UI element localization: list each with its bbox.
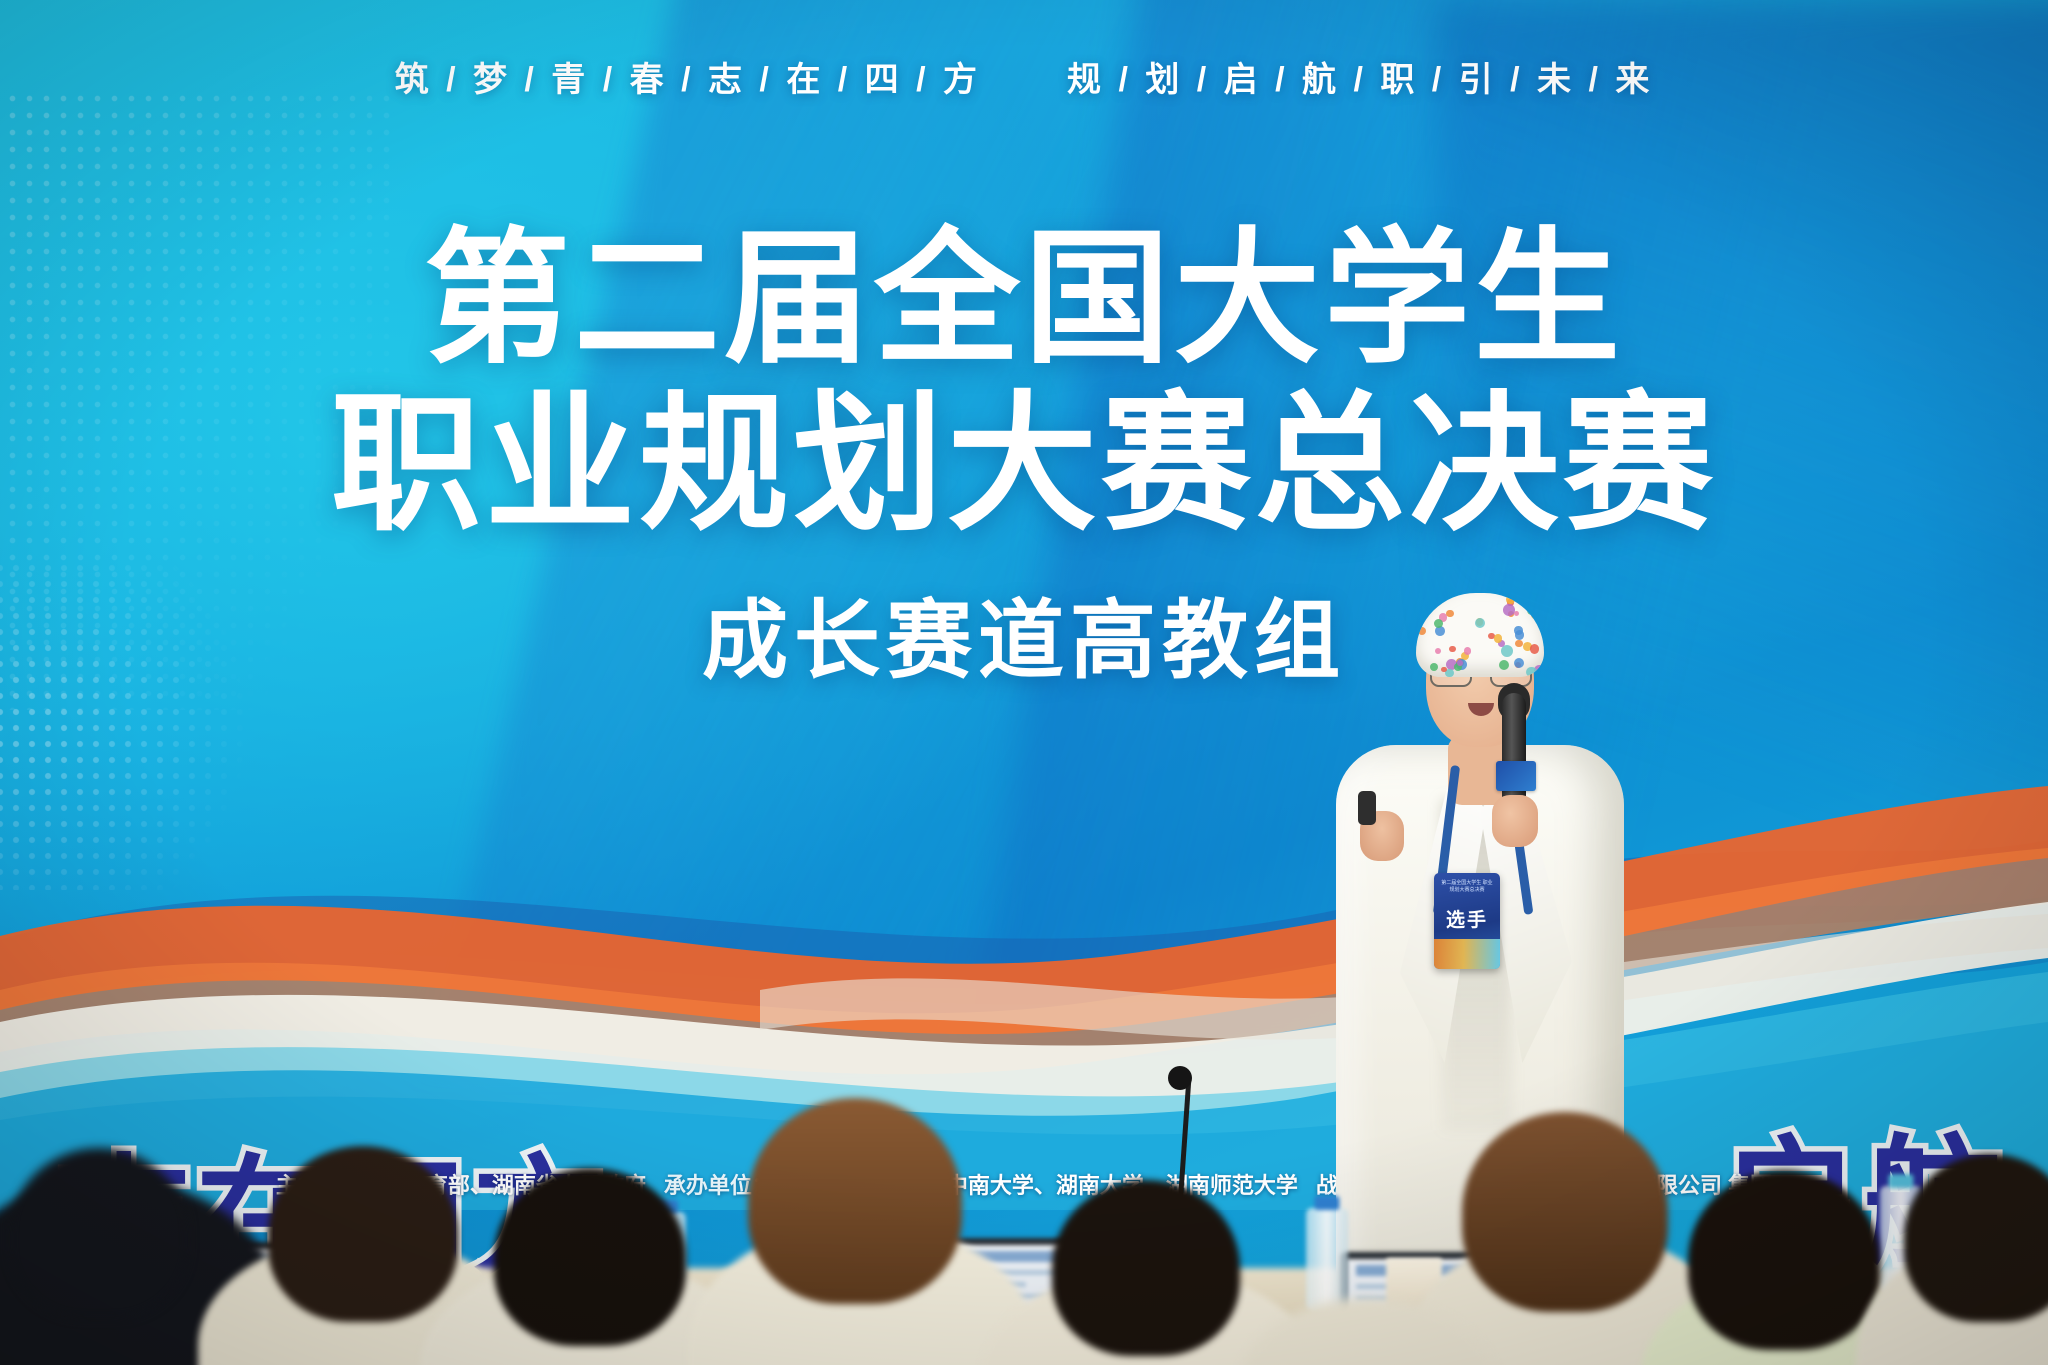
audience-head <box>494 1168 686 1346</box>
cap-pattern-dot <box>1515 640 1523 648</box>
slogan-left-text: 筑 / 梦 / 青 / 春 / 志 / 在 / 四 / 方 <box>395 52 981 101</box>
cap-pattern-dot <box>1506 595 1515 604</box>
cap-pattern-dot <box>1475 618 1485 628</box>
badge-role-text: 选手 <box>1434 905 1500 932</box>
bottle-cap <box>1314 1196 1339 1210</box>
audience-head <box>1462 1112 1668 1312</box>
microphone-flag <box>1496 761 1536 791</box>
cap-pattern-dot <box>1503 604 1515 616</box>
cap-pattern-dot <box>1514 611 1519 616</box>
audience-head <box>748 1098 962 1304</box>
cap-pattern-dot <box>1449 646 1455 652</box>
cap-pattern-dot <box>1446 610 1454 618</box>
bottle-cap <box>1888 1174 1913 1188</box>
cap-pattern-dot <box>1435 648 1441 654</box>
audience-head <box>1688 1170 1880 1350</box>
cap-pattern-dot <box>1494 634 1502 642</box>
cap-pattern-dot <box>1526 667 1536 677</box>
cap-pattern-dot <box>1531 611 1539 619</box>
presentation-clicker <box>1358 791 1376 825</box>
contestant-badge: 第二届全国大学生 职业规划大赛总决赛 选手 <box>1434 873 1500 969</box>
cap-pattern-dot <box>1499 660 1509 670</box>
event-title-line1: 第二届全国大学生 <box>0 222 2048 377</box>
cap-pattern-dot <box>1464 647 1471 654</box>
surgical-cap <box>1416 593 1544 677</box>
cap-pattern-dot <box>1430 663 1438 671</box>
cap-pattern-dot <box>1514 658 1524 668</box>
led-backdrop: 筑 / 梦 / 青 / 春 / 志 / 在 / 四 / 方 规 / 划 / 启 … <box>0 0 2048 1365</box>
event-stage-photo: 筑 / 梦 / 青 / 春 / 志 / 在 / 四 / 方 规 / 划 / 启 … <box>0 0 2048 1365</box>
audience-head <box>10 1148 188 1318</box>
cap-pattern-dot <box>1530 644 1540 654</box>
cap-pattern-dot <box>1418 627 1426 635</box>
audience-head <box>1052 1180 1240 1356</box>
audience-head <box>268 1146 458 1322</box>
cap-pattern-dot <box>1515 630 1524 639</box>
slogan-bar: 筑 / 梦 / 青 / 春 / 志 / 在 / 四 / 方 规 / 划 / 启 … <box>0 52 2048 101</box>
event-title-line2: 职业规划大赛总决赛 <box>0 385 2048 544</box>
right-hand <box>1492 795 1538 847</box>
badge-header-text: 第二届全国大学生 职业规划大赛总决赛 <box>1440 880 1494 895</box>
slogan-right-text: 规 / 划 / 启 / 航 / 职 / 引 / 未 / 来 <box>1067 52 1653 101</box>
event-title-block: 第二届全国大学生 职业规划大赛总决赛 成长赛道高教组 <box>0 222 2048 695</box>
badge-footer-ribbon <box>1434 939 1500 969</box>
boom-microphone-head <box>1168 1066 1192 1090</box>
cap-pattern-dot <box>1528 602 1535 609</box>
event-subtitle: 成长赛道高教组 <box>0 570 2048 695</box>
cap-pattern-dot <box>1427 602 1432 607</box>
water-bottle <box>1306 1208 1348 1312</box>
